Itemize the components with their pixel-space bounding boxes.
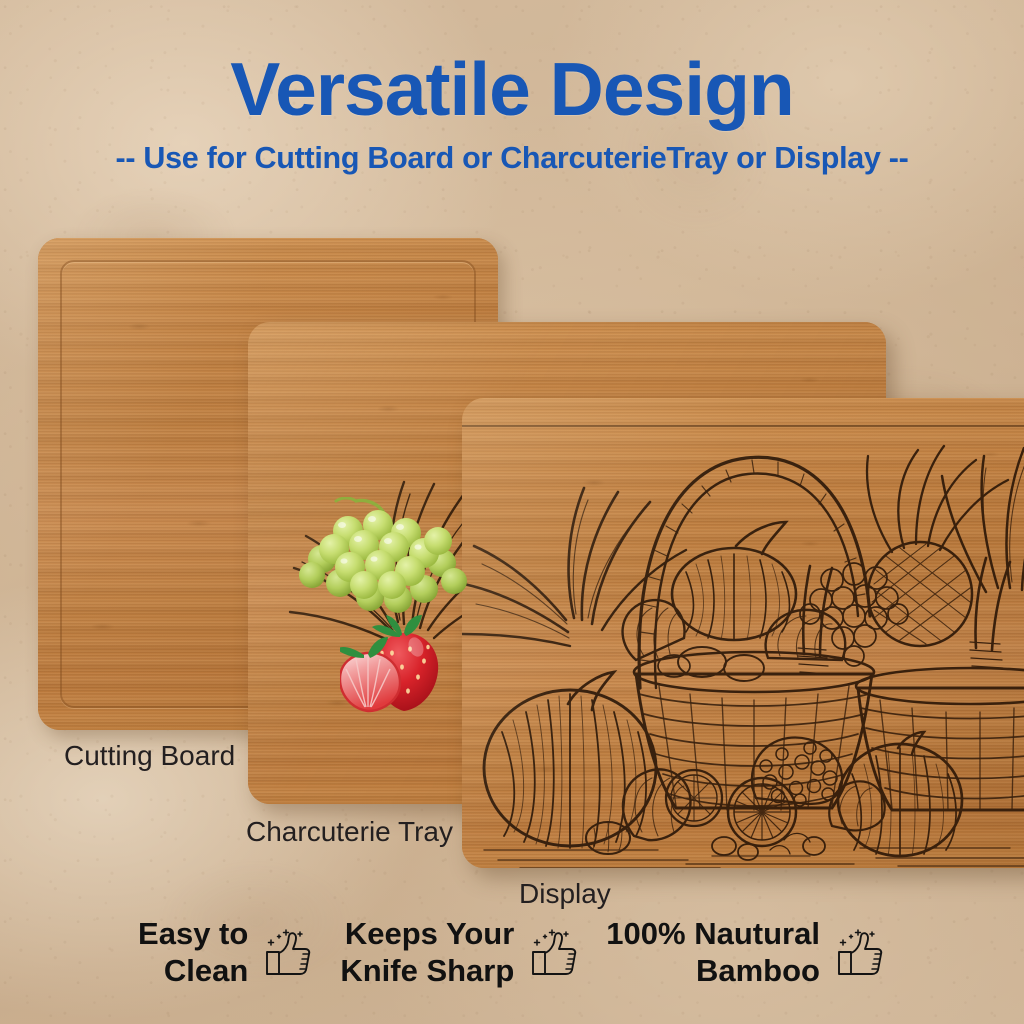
thumbs-up-icon	[262, 926, 314, 980]
feature-label: 100% Nautural Bamboo	[606, 880, 820, 1024]
page-subtitle: -- Use for Cutting Board or CharcuterieT…	[0, 143, 1024, 174]
feature-line-2: Clean	[138, 953, 248, 990]
feature-line-2: Bamboo	[606, 953, 820, 990]
feature-natural-bamboo: 100% Nautural Bamboo	[606, 880, 886, 1024]
strawberries-photo	[340, 615, 458, 713]
feature-line-2: Knife Sharp	[340, 953, 514, 990]
green-grapes-photo	[292, 497, 470, 615]
label-cutting-board: Cutting Board	[64, 742, 235, 770]
feature-label: Easy to Clean	[138, 880, 248, 1024]
feature-easy-to-clean: Easy to Clean	[138, 880, 314, 1024]
page-title: Versatile Design	[0, 52, 1024, 127]
feature-line-1: 100% Nautural	[606, 916, 820, 951]
label-charcuterie-tray: Charcuterie Tray	[246, 818, 453, 846]
thumbs-up-icon	[834, 926, 886, 980]
feature-line-1: Keeps Your	[345, 916, 514, 951]
feature-line-1: Easy to	[138, 916, 248, 951]
feature-keeps-knife-sharp: Keeps Your Knife Sharp	[340, 880, 580, 1024]
feature-label: Keeps Your Knife Sharp	[340, 880, 514, 1024]
thumbs-up-icon	[528, 926, 580, 980]
board-display	[462, 398, 1024, 868]
product-infographic: Versatile Design -- Use for Cutting Boar…	[0, 0, 1024, 1024]
board-sheen	[462, 398, 1024, 868]
feature-strip: Easy to Clean	[0, 908, 1024, 998]
